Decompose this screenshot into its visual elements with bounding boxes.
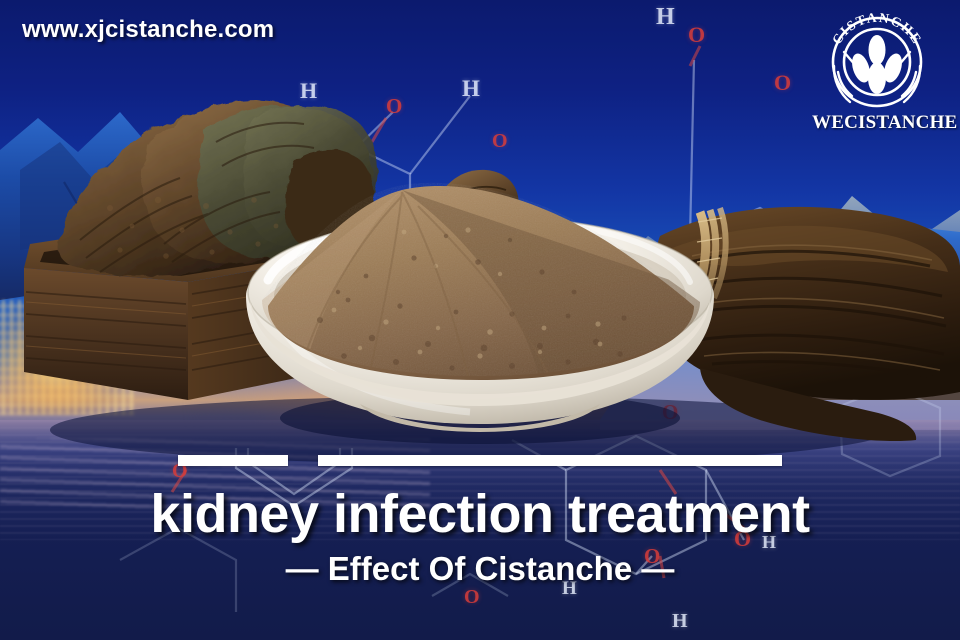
promo-banner: H O H O H O O H O O O H O H H O O H (0, 0, 960, 640)
brand-logo[interactable]: CISTANCHE WECISTANCHE (812, 8, 942, 153)
title-rules (0, 455, 960, 469)
page-subtitle: — Effect Of Cistanche — (0, 548, 960, 590)
logo-wordmark: WECISTANCHE (812, 112, 942, 134)
cistanche-petal-emblem-icon: CISTANCHE (822, 8, 932, 116)
title-rule-short (178, 455, 288, 466)
site-url-text[interactable]: www.xjcistanche.com (22, 16, 274, 44)
title-rule-long (318, 455, 782, 466)
page-title: kidney infection treatment (0, 482, 960, 546)
